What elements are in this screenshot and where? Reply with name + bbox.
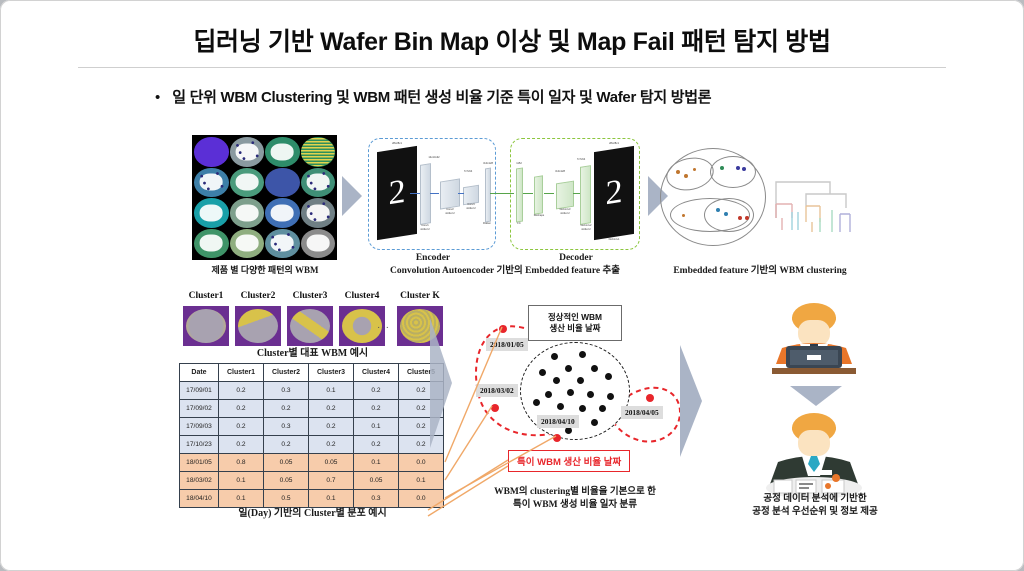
title-divider (78, 67, 946, 68)
cluster-point (738, 216, 742, 220)
layer-stride-6: stride=2 (553, 212, 577, 215)
wafer-thumb (301, 198, 336, 228)
latent-arrow (490, 193, 514, 194)
page-title: 딥러닝 기반 Wafer Bin Map 이상 및 Map Fail 패턴 탐지… (0, 22, 1024, 58)
wafer-thumb (230, 229, 265, 259)
cluster-point (684, 174, 688, 178)
layer-shape-6: 3x3x128 (548, 170, 572, 173)
flow-arrow (573, 193, 580, 194)
flow-arrow (458, 193, 464, 194)
layer-name-8: DeConv1 (596, 238, 632, 241)
venn-sub-2 (710, 156, 756, 188)
cluster-point (716, 208, 720, 212)
dendrogram (772, 160, 858, 242)
bullet-text: 일 단위 WBM Clustering 및 WBM 패턴 생성 비율 기준 특이… (172, 88, 711, 108)
flow-arrow (544, 193, 554, 194)
layer-stride-0: stride=2 (412, 228, 438, 231)
wafer-thumb (194, 229, 229, 259)
layer-shape-4: 1152 (510, 162, 528, 165)
layer-name-2: Conv3 (460, 203, 482, 206)
venn-sub-4 (704, 198, 754, 232)
flatten-slab (485, 168, 491, 223)
flow-arrow (410, 193, 420, 194)
cluster-point (682, 214, 685, 217)
cluster-venn-diagram (660, 148, 764, 244)
flow-arrow (430, 193, 439, 194)
deconv3-slab (556, 181, 574, 210)
wafer-thumb (301, 229, 336, 259)
anomaly-caption-line2: 특이 WBM 생성 비율 일자 분류 (450, 500, 700, 512)
wafer-thumb (230, 137, 265, 167)
output-image: 2 (594, 146, 634, 240)
cluster-point (693, 168, 696, 171)
reshape-slab (534, 175, 543, 214)
wafer-thumb (265, 198, 300, 228)
outcome-caption-line1: 공정 데이터 분석에 기반한 (700, 494, 930, 506)
layer-shape-7: 7x7x64 (568, 158, 594, 161)
wafer-thumb (265, 168, 300, 198)
clustering-caption: Embedded feature 기반의 WBM clustering (640, 266, 880, 278)
layer-shape-0: 28x28x1 (377, 142, 417, 145)
cluster-point (720, 166, 724, 170)
bullet-marker: • (155, 88, 160, 108)
bullet-row: • 일 단위 WBM Clustering 및 WBM 패턴 생성 비율 기준 … (155, 88, 711, 108)
autoencoder-caption: Convolution Autoencoder 기반의 Embedded fea… (358, 266, 652, 278)
layer-name-0: Conv1 (412, 224, 438, 227)
wbm-samples-caption: 제품 별 다양한 패턴의 WBM (180, 265, 350, 276)
fc-slab (516, 167, 523, 222)
layer-name-1: Conv2 (438, 208, 462, 211)
anomaly-caption-line1: WBM의 clustering별 비율을 기본으로 한 (450, 487, 700, 499)
wafer-thumb (194, 168, 229, 198)
wbm-sample-grid (192, 135, 337, 260)
cluster-point (745, 216, 749, 220)
wafer-thumb (230, 198, 265, 228)
cluster-point (742, 167, 746, 171)
layer-shape-8: 28x28x1 (594, 142, 634, 145)
layer-name-3: Flatten (476, 222, 498, 225)
anomaly-point-4 (646, 394, 654, 402)
conv1-slab (420, 163, 431, 225)
layer-stride-2: stride=2 (460, 207, 482, 210)
decoder-label: Decoder (518, 253, 634, 265)
chevron-right-icon-1 (342, 176, 362, 216)
slide-canvas: 딥러닝 기반 Wafer Bin Map 이상 및 Map Fail 패턴 탐지… (0, 0, 1024, 571)
wafer-thumb (230, 168, 265, 198)
chevron-down-icon (790, 386, 842, 406)
anomaly-date-tag-4: 2018/04/05 (621, 406, 663, 419)
wafer-thumb (194, 198, 229, 228)
cluster-point (724, 212, 728, 216)
layer-name-6: DeConv3 (553, 208, 577, 211)
cluster-point (736, 166, 740, 170)
engineer-at-laptop-illustration (724, 300, 904, 380)
conv2-slab (440, 178, 460, 209)
wafer-thumb (301, 137, 336, 167)
wafer-thumb (265, 137, 300, 167)
layer-name-4: FC (512, 222, 526, 225)
layer-name-5: Reshape (528, 214, 550, 217)
layer-shape-3: 3x3x128 (480, 162, 496, 165)
deconv2-slab (580, 165, 591, 225)
wafer-thumb (194, 137, 229, 167)
wafer-thumb (265, 229, 300, 259)
layer-shape-2: 7x7x64 (456, 170, 480, 173)
engineer-reviewing-report-illustration (724, 408, 904, 500)
flow-arrow (523, 193, 533, 194)
encoder-label: Encoder (375, 253, 491, 265)
cluster-point (676, 170, 680, 174)
wafer-thumb (301, 168, 336, 198)
autoencoder-diagram: 2 28x28x1 Conv1 stride=2 14x14x32 Conv2 … (368, 138, 640, 250)
outcome-caption-line2: 공정 분석 우선순위 및 정보 제공 (700, 507, 930, 519)
layer-shape-1: 14x14x32 (421, 156, 447, 159)
layer-stride-1: stride=2 (438, 212, 462, 215)
